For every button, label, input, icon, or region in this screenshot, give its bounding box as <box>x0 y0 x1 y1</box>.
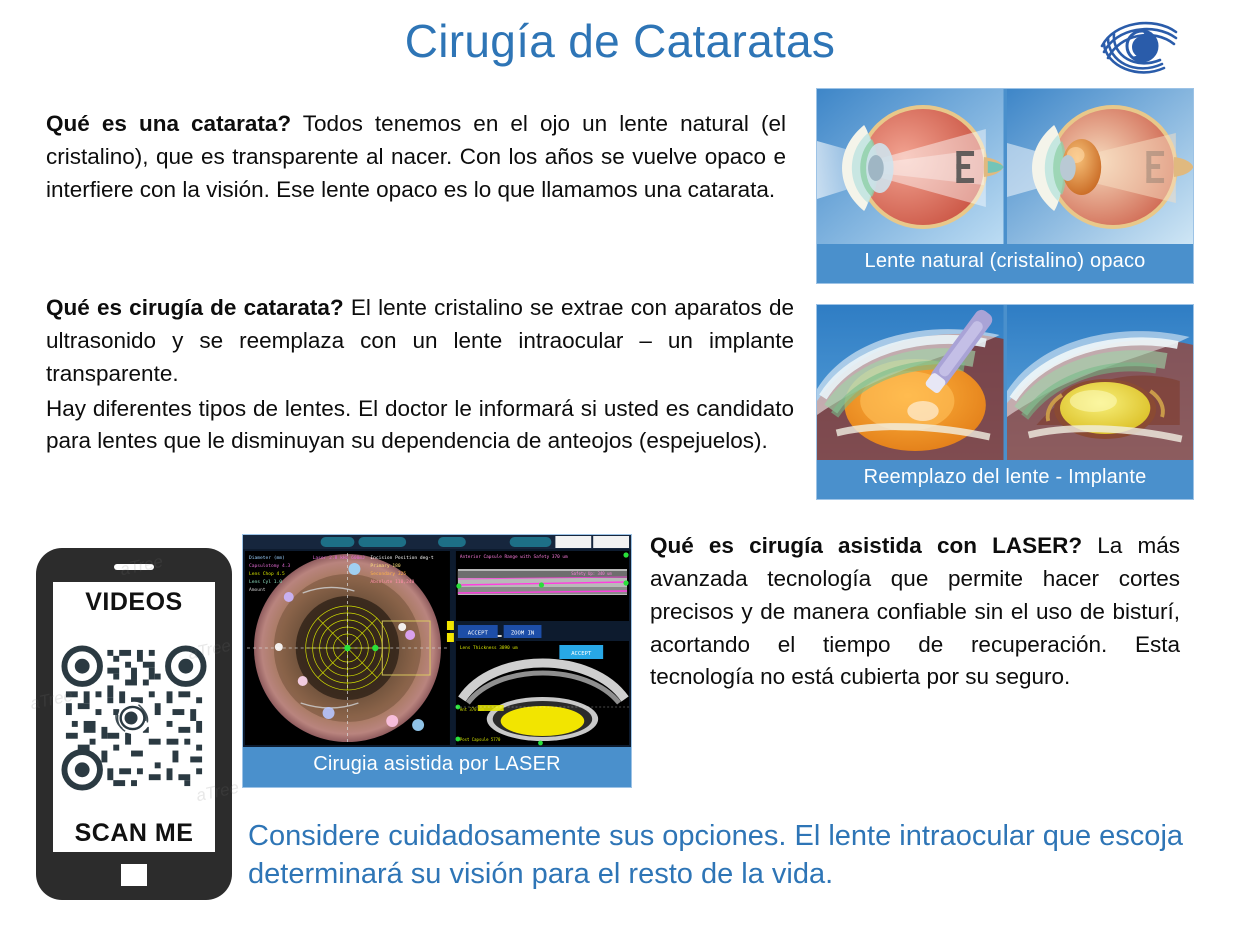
paragraph-laser-assisted-surgery: Qué es cirugía asistida con LASER? La má… <box>650 530 1180 694</box>
paragraph-heading-surgery: Qué es cirugía de catarata? <box>46 295 344 320</box>
figure-images <box>817 89 1193 244</box>
qr-code-svg[interactable] <box>60 644 208 792</box>
paragraph-body-surgery-lens-types: Hay diferentes tipos de lentes. El docto… <box>46 393 794 459</box>
paragraph-what-is-cataract: Qué es una catarata? Todos tenemos en el… <box>46 108 786 207</box>
eye-logo <box>1092 8 1188 84</box>
phone-speaker <box>114 564 154 570</box>
svg-text:Absolute 110,240: Absolute 110,240 <box>370 579 414 585</box>
paragraph-heading-laser: Qué es cirugía asistida con LASER? <box>650 533 1082 558</box>
paragraph-heading-cataract: Qué es una catarata? <box>46 111 291 136</box>
eye-cross-section-clear-lens <box>817 89 1004 244</box>
paragraph-what-is-cataract-surgery: Qué es cirugía de catarata? El lente cri… <box>46 292 794 458</box>
svg-text:Primary 180: Primary 180 <box>370 563 400 569</box>
svg-text:Post Capsule 5770: Post Capsule 5770 <box>460 737 501 742</box>
svg-text:Anterior Capsule Range with Sa: Anterior Capsule Range with Safety 370 u… <box>460 554 568 560</box>
figure-images: Diameter (mm) Capsulotomy 4.3 Lens Chop … <box>243 535 631 747</box>
figure-images <box>817 305 1193 460</box>
svg-text:Lens Thickness 3890 um: Lens Thickness 3890 um <box>460 645 518 651</box>
phone-label-videos: VIDEOS <box>85 588 182 617</box>
eye-cross-section-opaque-lens <box>1007 89 1194 244</box>
footer-advice-text: Considere cuidadosamente sus opciones. E… <box>248 818 1208 893</box>
svg-text:ACCEPT: ACCEPT <box>571 651 592 657</box>
svg-text:Lens Cyl 1.0: Lens Cyl 1.0 <box>249 579 282 585</box>
svg-text:Amount: Amount <box>249 587 266 593</box>
figure-cataract-eyes: Lente natural (cristalino) opaco <box>816 88 1194 284</box>
phacoemulsification-probe-illustration <box>817 305 1004 460</box>
svg-text:Safety Up: 340 um: Safety Up: 340 um <box>571 571 612 576</box>
svg-text:Laser 2.8 kHz 600mJ: Laser 2.8 kHz 600mJ <box>313 555 365 561</box>
page-title: Cirugía de Cataratas <box>0 14 1240 68</box>
svg-text:Capsulotomy 4.3: Capsulotomy 4.3 <box>249 563 290 569</box>
svg-text:Lens Chop 4.5: Lens Chop 4.5 <box>249 571 285 577</box>
svg-text:Secondary 325: Secondary 325 <box>370 571 406 577</box>
svg-text:ACCEPT: ACCEPT <box>468 630 489 636</box>
svg-text:ZOOM IN: ZOOM IN <box>511 630 534 636</box>
phone-screen: VIDEOS <box>53 582 215 852</box>
phone-home-button <box>121 864 147 886</box>
phone-qr-graphic: VIDEOS <box>36 548 232 900</box>
qr-code[interactable] <box>60 644 208 792</box>
figure-caption-implant: Reemplazo del lente - Implante <box>817 460 1193 497</box>
phone-label-scan-me: SCAN ME <box>75 819 194 848</box>
intraocular-lens-implant-illustration <box>1007 305 1194 460</box>
femtosecond-laser-console-screen: Diameter (mm) Capsulotomy 4.3 Lens Chop … <box>243 535 631 747</box>
figure-caption-laser: Cirugia asistida por LASER <box>243 747 631 784</box>
svg-text:Incision Position deg-t: Incision Position deg-t <box>370 555 433 561</box>
figure-caption-cataract: Lente natural (cristalino) opaco <box>817 244 1193 281</box>
poster-page: Cirugía de Cataratas Qué es una catarata… <box>0 0 1240 930</box>
figure-lens-replacement: Reemplazo del lente - Implante <box>816 304 1194 500</box>
svg-text:Diameter (mm): Diameter (mm) <box>249 555 285 561</box>
figure-laser-console: Diameter (mm) Capsulotomy 4.3 Lens Chop … <box>242 534 632 788</box>
